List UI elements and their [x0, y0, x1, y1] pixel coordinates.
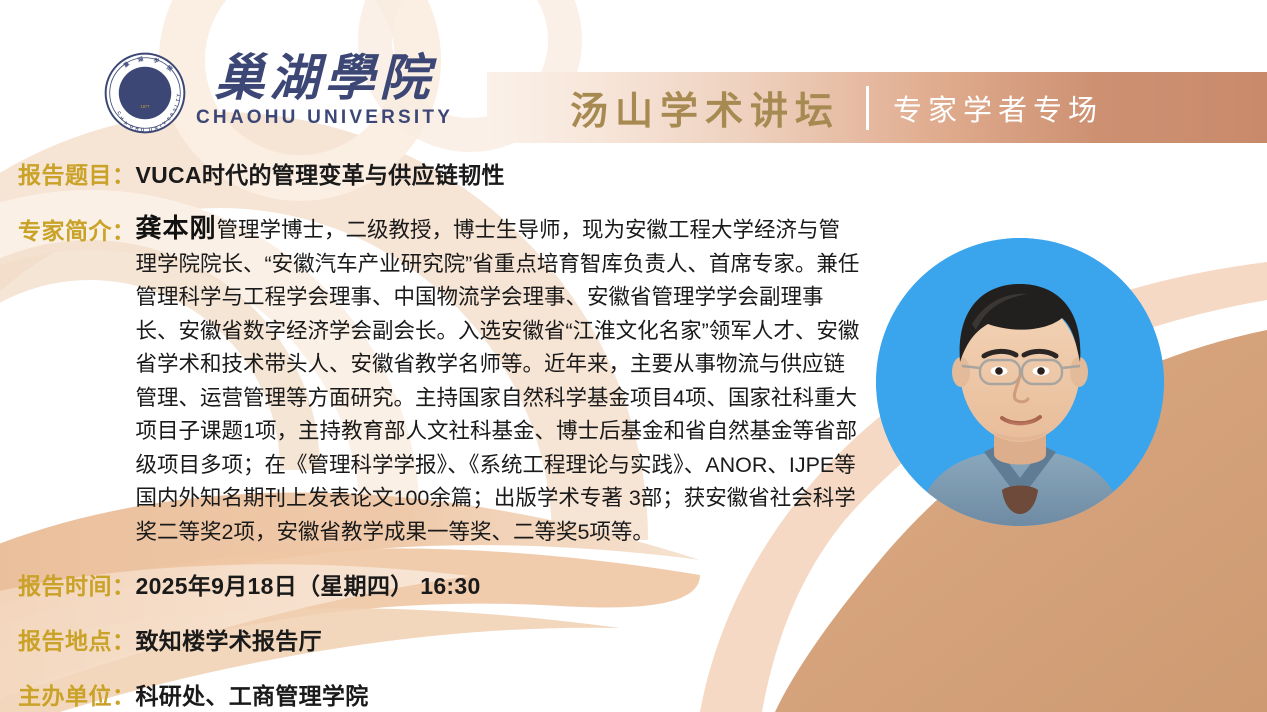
lecture-host-row: 主办单位： 科研处、工商管理学院	[18, 677, 369, 711]
lecture-time-row: 报告时间： 2025年9月18日（星期四） 16:30	[18, 567, 481, 601]
lecture-time-value: 2025年9月18日（星期四） 16:30	[136, 567, 481, 601]
lecture-time-label: 报告时间：	[18, 567, 136, 601]
lecture-title-label: 报告题目：	[18, 156, 136, 190]
speaker-portrait-image	[876, 238, 1164, 526]
lecture-title-row: 报告题目： VUCA时代的管理变革与供应链韧性	[18, 156, 505, 190]
lecture-host-label: 主办单位：	[18, 677, 136, 711]
lecture-place-value: 致知楼学术报告厅	[136, 622, 322, 656]
poster-root: 1977 巢 湖 学 院 C H A O H U U N I V	[0, 0, 1267, 712]
speaker-name: 龚本刚	[136, 213, 217, 243]
speaker-portrait	[876, 238, 1164, 526]
speaker-bio-text: 管理学博士，二级教授，博士生导师，现为安徽工程大学经济与管理学院院长、“安徽汽车…	[136, 218, 860, 544]
speaker-bio-block: 龚本刚管理学博士，二级教授，博士生导师，现为安徽工程大学经济与管理学院院长、“安…	[136, 212, 860, 549]
speaker-bio-label: 专家简介：	[18, 212, 136, 246]
speaker-bio-paragraph: 龚本刚管理学博士，二级教授，博士生导师，现为安徽工程大学经济与管理学院院长、“安…	[136, 218, 860, 544]
lecture-place-row: 报告地点： 致知楼学术报告厅	[18, 622, 322, 656]
lecture-host-value: 科研处、工商管理学院	[136, 677, 369, 711]
speaker-bio-row: 专家简介： 龚本刚管理学博士，二级教授，博士生导师，现为安徽工程大学经济与管理学…	[18, 212, 860, 549]
lecture-place-label: 报告地点：	[18, 622, 136, 656]
lecture-title-value: VUCA时代的管理变革与供应链韧性	[136, 156, 505, 190]
